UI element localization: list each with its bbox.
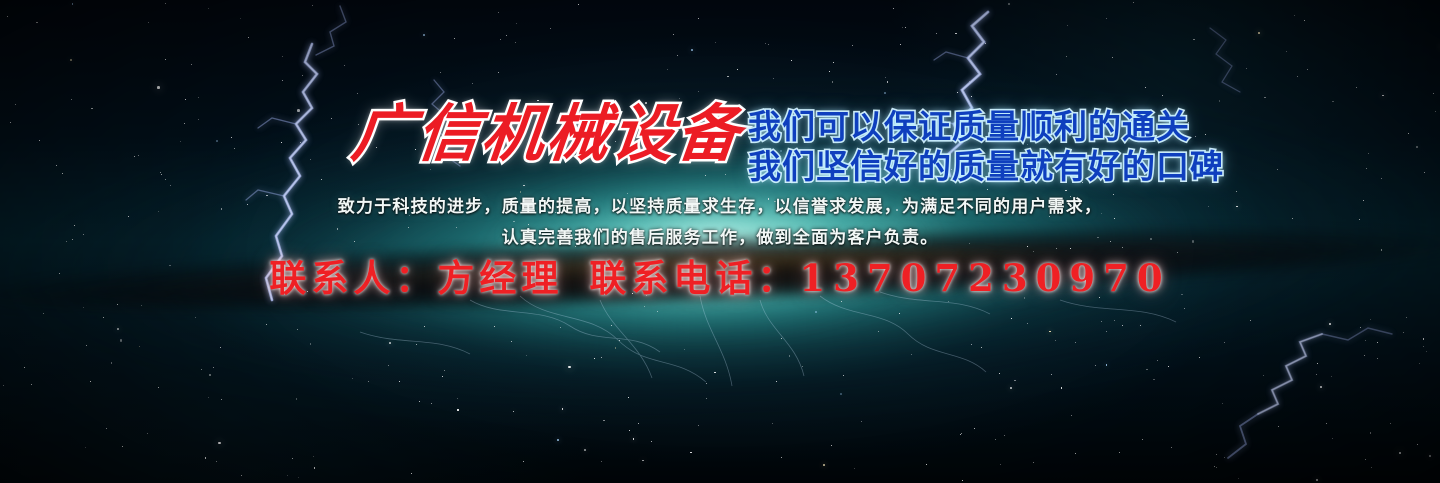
contact-line: 联系人：方经理联系电话：13707230970 <box>0 256 1440 300</box>
promo-banner: 广信机械设备 我们可以保证质量顺利的通关 我们坚信好的质量就有好的口碑 致力于科… <box>0 0 1440 483</box>
slogan-line-1: 我们可以保证质量顺利的通关 <box>748 108 1224 146</box>
contact-person-name: 方经理 <box>437 256 563 300</box>
brand-title-row: 广信机械设备 <box>352 103 742 165</box>
contact-person-label: 联系人： <box>269 256 437 300</box>
brand-title: 广信机械设备 <box>349 103 746 165</box>
contact-phone-label: 联系电话： <box>589 256 799 300</box>
banner-content: 广信机械设备 我们可以保证质量顺利的通关 我们坚信好的质量就有好的口碑 致力于科… <box>0 0 1440 483</box>
slogan-block: 我们可以保证质量顺利的通关 我们坚信好的质量就有好的口碑 <box>748 108 1224 186</box>
contact-phone-number[interactable]: 13707230970 <box>799 256 1170 300</box>
description-line-2: 认真完善我们的售后服务工作，做到全面为客户负责。 <box>0 227 1440 249</box>
description-line-1: 致力于科技的进步，质量的提高，以坚持质量求生存，以信誉求发展，为满足不同的用户需… <box>0 196 1440 218</box>
slogan-line-2: 我们坚信好的质量就有好的口碑 <box>748 148 1224 186</box>
